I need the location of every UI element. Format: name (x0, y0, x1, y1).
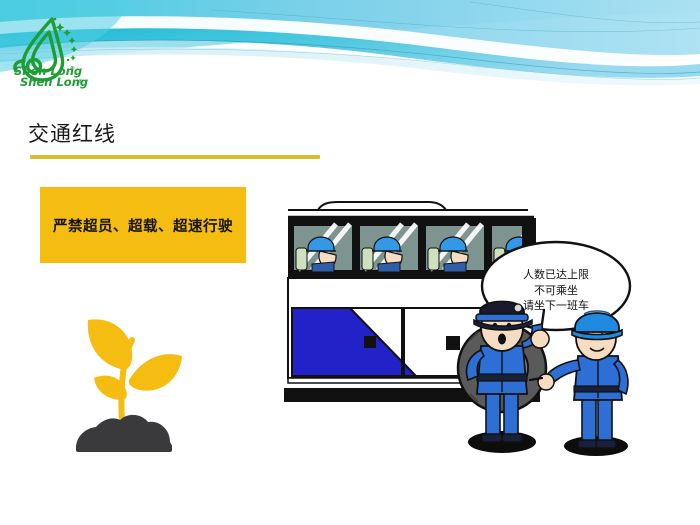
svg-text:®: ® (70, 66, 75, 72)
slide-root: Shen Long Shen Long ® ® 交通红线 严禁超员、超载、超速行… (0, 0, 700, 525)
svg-text:®: ® (78, 79, 83, 85)
title-underline (30, 155, 320, 159)
bus-overcrowding-illustration (278, 196, 678, 458)
wave-banner (0, 0, 700, 96)
warning-callout-text: 严禁超员、超载、超速行驶 (53, 215, 233, 236)
warning-callout-box: 严禁超员、超载、超速行驶 (40, 187, 246, 263)
sprout-plant-icon (58, 296, 190, 454)
shen-long-logo: Shen Long Shen Long ® ® (8, 14, 94, 90)
page-title: 交通红线 (28, 118, 116, 148)
